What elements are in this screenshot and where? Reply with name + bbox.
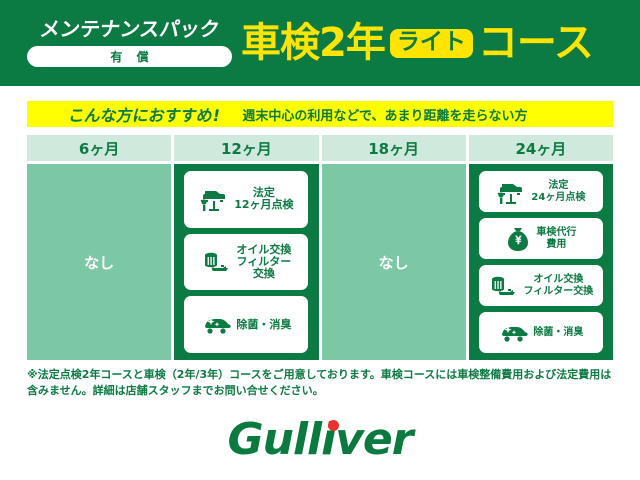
service-item: 車検代行 費用	[479, 218, 603, 259]
service-item: 除菌・消臭	[479, 312, 603, 353]
column-body: なし	[27, 164, 171, 360]
service-item: 法定 24ヶ月点検	[479, 171, 603, 212]
header-title-block: 車検2年 ライト コース	[241, 23, 640, 63]
service-item-label: 法定 12ヶ月点検	[234, 187, 293, 212]
table-column-12ヶ月: 12ヶ月法定 12ヶ月点検オイル交換 フィルター 交換除菌・消臭	[174, 135, 318, 360]
car-on-lift-icon	[199, 186, 229, 212]
money-bag-yen-icon	[505, 226, 531, 252]
service-item-label: 車検代行 費用	[536, 227, 576, 249]
column-header-label: 6ヶ月	[79, 138, 119, 159]
recommendation-banner: こんな方におすすめ! 週末中心の利用などで、あまり距離を走らない方	[27, 101, 613, 127]
header-pack-block: メンテナンスパック 有 償	[22, 19, 237, 67]
paid-badge: 有 償	[27, 46, 232, 67]
service-item-label: オイル交換 フィルター交換	[523, 274, 593, 296]
paid-badge-label: 有 償	[105, 48, 153, 65]
column-body: なし	[322, 164, 466, 360]
main-title-part2: コース	[478, 23, 593, 63]
service-item-label: オイル交換 フィルター 交換	[236, 244, 291, 281]
service-schedule-table: 6ヶ月なし12ヶ月法定 12ヶ月点検オイル交換 フィルター 交換除菌・消臭18ヶ…	[27, 135, 613, 360]
column-header-label: 24ヶ月	[515, 138, 566, 159]
column-header-label: 12ヶ月	[221, 138, 272, 159]
main-title-part1: 車検2年	[241, 23, 385, 63]
brand-logo-text: Gulliver	[228, 418, 413, 462]
footnote-text: ※法定点検2年コースと車検（2年/3年）コースをご用意しております。車検コースに…	[27, 367, 617, 399]
light-course-badge: ライト	[390, 29, 473, 58]
table-column-24ヶ月: 24ヶ月法定 24ヶ月点検車検代行 費用オイル交換 フィルター交換除菌・消臭	[469, 135, 613, 360]
header-banner: メンテナンスパック 有 償 車検2年 ライト コース	[0, 0, 640, 86]
recommendation-lead: こんな方におすすめ!	[67, 102, 223, 126]
no-service-label: なし	[84, 252, 114, 273]
service-item: 除菌・消臭	[184, 296, 308, 353]
recommendation-detail: 週末中心の利用などで、あまり距離を走らない方	[242, 105, 527, 124]
oil-can-filter-icon	[201, 249, 231, 275]
sparkle-car-icon	[201, 314, 231, 336]
column-header: 24ヶ月	[469, 135, 613, 161]
service-item: オイル交換 フィルター交換	[479, 265, 603, 306]
table-column-18ヶ月: 18ヶ月なし	[322, 135, 466, 360]
brand-name: Gulliver	[228, 414, 413, 465]
no-service-label: なし	[379, 252, 409, 273]
maintenance-pack-infographic: メンテナンスパック 有 償 車検2年 ライト コース こんな方におすすめ! 週末…	[0, 0, 640, 480]
table-column-6ヶ月: 6ヶ月なし	[27, 135, 171, 360]
column-header-label: 18ヶ月	[368, 138, 419, 159]
service-item-label: 除菌・消臭	[236, 319, 291, 331]
sparkle-car-icon	[498, 322, 528, 344]
service-item-label: 法定 24ヶ月点検	[531, 180, 585, 202]
column-header: 6ヶ月	[27, 135, 171, 161]
service-item-label: 除菌・消臭	[533, 327, 583, 338]
column-header: 18ヶ月	[322, 135, 466, 161]
column-body: 法定 12ヶ月点検オイル交換 フィルター 交換除菌・消臭	[174, 164, 318, 360]
brand-logo: Gulliver	[0, 412, 640, 468]
car-on-lift-icon	[496, 179, 526, 205]
oil-can-filter-icon	[488, 273, 518, 299]
service-item: オイル交換 フィルター 交換	[184, 234, 308, 291]
column-body: 法定 24ヶ月点検車検代行 費用オイル交換 フィルター交換除菌・消臭	[469, 164, 613, 360]
column-header: 12ヶ月	[174, 135, 318, 161]
pack-title: メンテナンスパック	[38, 19, 220, 39]
service-item: 法定 12ヶ月点検	[184, 171, 308, 228]
